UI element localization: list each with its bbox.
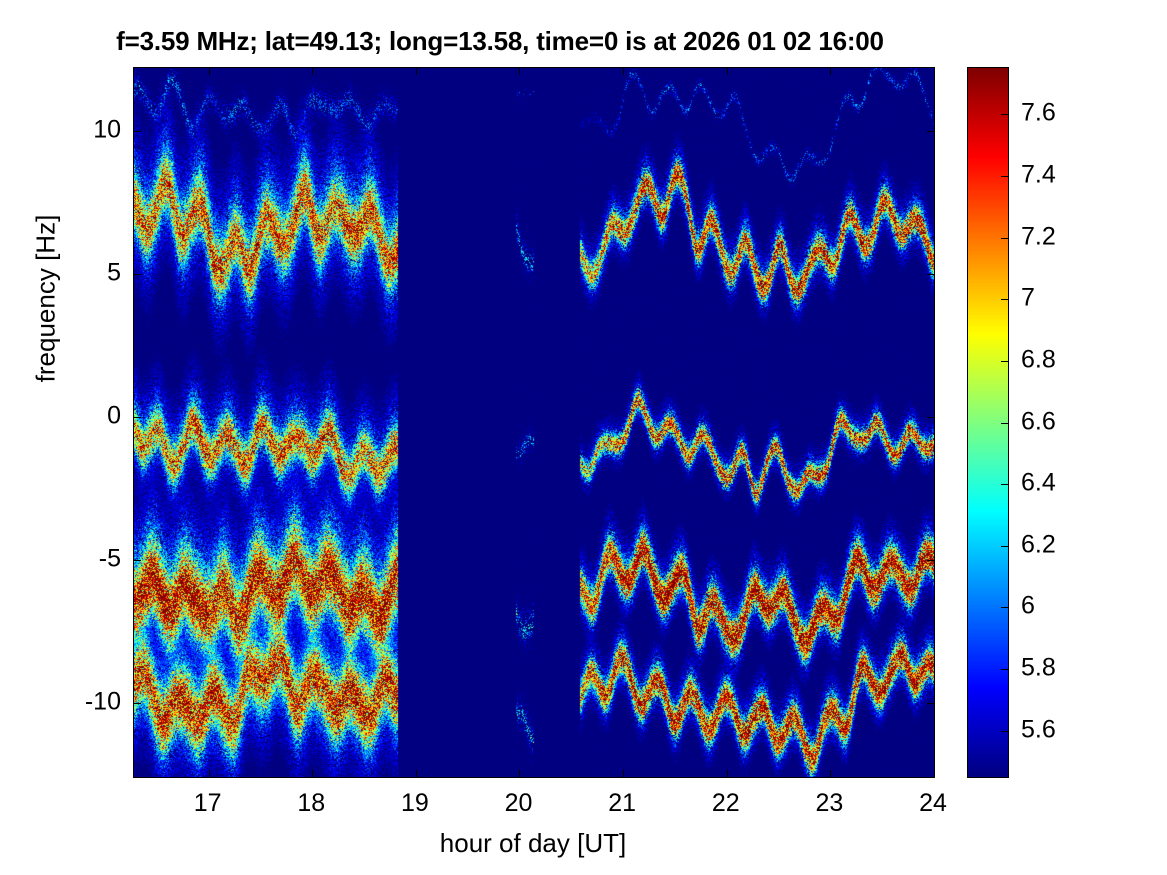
x-tick-label: 19 bbox=[375, 789, 455, 818]
spectrogram-image bbox=[134, 68, 934, 777]
colorbar-tick-label: 5.8 bbox=[1021, 654, 1056, 683]
y-tick-mark bbox=[134, 131, 141, 132]
colorbar-tick-label: 6.2 bbox=[1021, 530, 1056, 559]
spectrogram-axes bbox=[133, 67, 935, 778]
x-tick-label: 23 bbox=[789, 789, 869, 818]
y-tick-mark bbox=[927, 417, 934, 418]
y-tick-mark bbox=[927, 560, 934, 561]
colorbar-tick-label: 6.8 bbox=[1021, 345, 1056, 374]
x-tick-label: 24 bbox=[893, 789, 973, 818]
colorbar-tick-mark bbox=[1001, 484, 1008, 485]
x-tick-mark bbox=[727, 68, 728, 75]
colorbar-tick-label: 6.6 bbox=[1021, 407, 1056, 436]
x-tick-label: 21 bbox=[582, 789, 662, 818]
colorbar-tick-label: 7 bbox=[1021, 284, 1035, 313]
y-tick-mark bbox=[134, 703, 141, 704]
colorbar bbox=[967, 67, 1009, 778]
x-tick-mark bbox=[209, 68, 210, 75]
x-tick-mark bbox=[312, 770, 313, 777]
x-tick-label: 17 bbox=[168, 789, 248, 818]
x-tick-mark bbox=[830, 770, 831, 777]
x-tick-mark bbox=[312, 68, 313, 75]
colorbar-tick-mark bbox=[1001, 361, 1008, 362]
x-axis-label: hour of day [UT] bbox=[133, 828, 933, 859]
colorbar-tick-label: 7.2 bbox=[1021, 222, 1056, 251]
y-tick-mark bbox=[927, 703, 934, 704]
colorbar-tick-mark bbox=[1001, 731, 1008, 732]
colorbar-tick-mark bbox=[1001, 114, 1008, 115]
x-tick-label: 20 bbox=[478, 789, 558, 818]
y-tick-label: -5 bbox=[41, 544, 121, 573]
x-tick-mark bbox=[623, 770, 624, 777]
y-tick-label: 10 bbox=[41, 115, 121, 144]
colorbar-tick-label: 6 bbox=[1021, 592, 1035, 621]
colorbar-tick-mark bbox=[1001, 669, 1008, 670]
y-axis-label: frequency [Hz] bbox=[31, 149, 62, 449]
figure-canvas: f=3.59 MHz; lat=49.13; long=13.58, time=… bbox=[0, 0, 1167, 875]
y-tick-mark bbox=[927, 131, 934, 132]
x-tick-mark bbox=[830, 68, 831, 75]
x-tick-mark bbox=[934, 770, 935, 777]
colorbar-tick-mark bbox=[1001, 176, 1008, 177]
colorbar-tick-mark bbox=[1001, 423, 1008, 424]
y-tick-mark bbox=[927, 274, 934, 275]
x-tick-mark bbox=[416, 770, 417, 777]
x-tick-mark bbox=[519, 770, 520, 777]
colorbar-tick-mark bbox=[1001, 607, 1008, 608]
y-tick-label: -10 bbox=[41, 687, 121, 716]
colorbar-tick-label: 5.6 bbox=[1021, 715, 1056, 744]
x-tick-mark bbox=[416, 68, 417, 75]
x-tick-mark bbox=[623, 68, 624, 75]
x-tick-mark bbox=[209, 770, 210, 777]
colorbar-tick-label: 7.4 bbox=[1021, 160, 1056, 189]
y-tick-mark bbox=[134, 417, 141, 418]
x-tick-mark bbox=[934, 68, 935, 75]
colorbar-tick-mark bbox=[1001, 299, 1008, 300]
colorbar-tick-mark bbox=[1001, 546, 1008, 547]
colorbar-tick-label: 6.4 bbox=[1021, 469, 1056, 498]
colorbar-tick-mark bbox=[1001, 238, 1008, 239]
x-tick-label: 22 bbox=[686, 789, 766, 818]
x-tick-label: 18 bbox=[271, 789, 351, 818]
x-tick-mark bbox=[727, 770, 728, 777]
colorbar-tick-label: 7.6 bbox=[1021, 99, 1056, 128]
x-tick-mark bbox=[519, 68, 520, 75]
y-tick-mark bbox=[134, 274, 141, 275]
y-tick-mark bbox=[134, 560, 141, 561]
page-title: f=3.59 MHz; lat=49.13; long=13.58, time=… bbox=[0, 26, 1000, 57]
